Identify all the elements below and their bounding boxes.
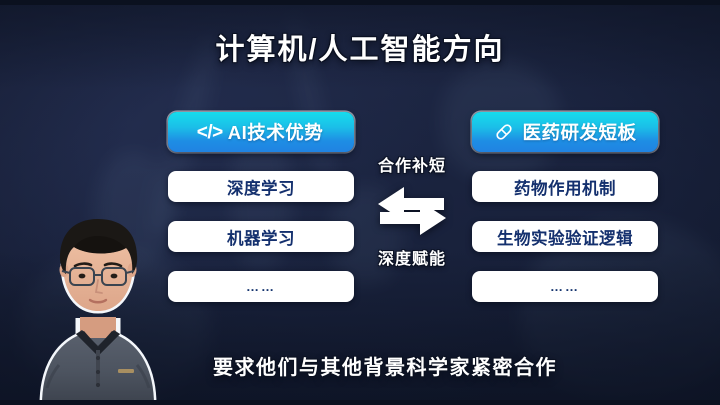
list-item-label: 机器学习 <box>227 225 295 249</box>
list-item-label: …… <box>550 279 580 294</box>
code-brackets-icon: </> <box>199 121 221 143</box>
slide-canvas: 计算机/人工智能方向 </> AI技术优势 深度学习 机器学习 …… <box>0 0 720 405</box>
list-item[interactable]: 深度学习 <box>168 171 354 202</box>
card-header-label: AI技术优势 <box>228 119 324 145</box>
list-item-label: …… <box>246 279 276 294</box>
pill-capsule-icon <box>493 121 515 143</box>
list-item[interactable]: 药物作用机制 <box>472 171 658 202</box>
list-item-label: 药物作用机制 <box>514 175 616 199</box>
list-item[interactable]: 机器学习 <box>168 221 354 252</box>
screen-edge-bottom <box>0 400 720 405</box>
presenter-cutout <box>14 210 182 405</box>
card-header-label: 医药研发短板 <box>522 119 636 145</box>
list-item[interactable]: 生物实验验证逻辑 <box>472 221 658 252</box>
list-item-label: 生物实验验证逻辑 <box>497 225 633 249</box>
card-header-ai[interactable]: </> AI技术优势 <box>168 112 354 152</box>
center-top-label: 合作补短 <box>358 152 466 176</box>
list-item-ellipsis[interactable]: …… <box>472 271 658 302</box>
exchange-arrows-icon <box>358 183 466 239</box>
card-header-pharma[interactable]: 医药研发短板 <box>472 112 658 152</box>
slide-title: 计算机/人工智能方向 <box>0 26 720 68</box>
list-item-ellipsis[interactable]: …… <box>168 271 354 302</box>
screen-edge-top <box>0 0 720 5</box>
column-ai-advantages: </> AI技术优势 深度学习 机器学习 …… <box>168 112 354 302</box>
center-bottom-label: 深度赋能 <box>358 245 466 269</box>
list-item-label: 深度学习 <box>227 175 295 199</box>
column-pharma-gaps: 医药研发短板 药物作用机制 生物实验验证逻辑 …… <box>472 112 658 302</box>
center-exchange-group: 合作补短 深度赋能 <box>358 152 466 269</box>
